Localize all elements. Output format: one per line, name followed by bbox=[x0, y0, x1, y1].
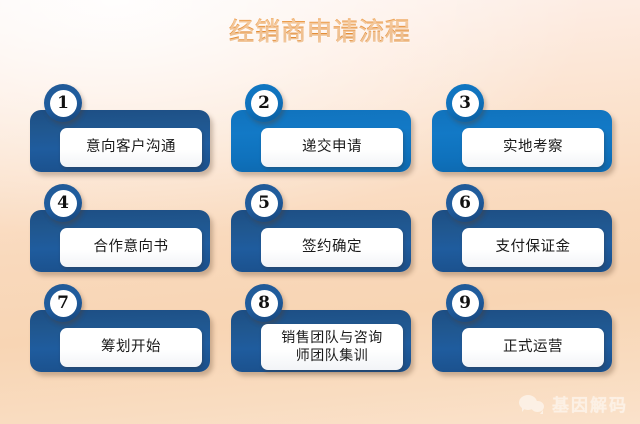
badge-disc: 1 bbox=[50, 90, 77, 117]
flow-step-7[interactable]: 7筹划开始 bbox=[22, 284, 218, 384]
step-number-badge: 5 bbox=[245, 184, 283, 222]
step-label-plate: 合作意向书 bbox=[60, 228, 202, 267]
step-label: 支付保证金 bbox=[496, 239, 571, 256]
step-label: 销售团队与咨询 师团队集训 bbox=[281, 329, 383, 365]
flowchart-canvas: 经销商申请流程 1意向客户沟通2递交申请3实地考察4合作意向书5签约确定6支付保… bbox=[0, 0, 640, 424]
badge-disc: 2 bbox=[251, 90, 278, 117]
step-label-plate: 支付保证金 bbox=[462, 228, 604, 267]
step-number: 9 bbox=[459, 295, 471, 312]
step-number-badge: 4 bbox=[44, 184, 82, 222]
step-label: 签约确定 bbox=[302, 239, 362, 256]
step-number-badge: 9 bbox=[446, 284, 484, 322]
badge-disc: 7 bbox=[50, 290, 77, 317]
page-title: 经销商申请流程 bbox=[229, 12, 411, 48]
step-label: 递交申请 bbox=[302, 139, 362, 156]
step-label: 正式运营 bbox=[503, 339, 563, 356]
badge-disc: 5 bbox=[251, 190, 278, 217]
step-label: 合作意向书 bbox=[94, 239, 169, 256]
step-label-plate: 筹划开始 bbox=[60, 328, 202, 367]
badge-disc: 8 bbox=[251, 290, 278, 317]
watermark: 基因解码 bbox=[519, 391, 628, 416]
step-number: 4 bbox=[57, 195, 69, 212]
step-label-plate: 签约确定 bbox=[261, 228, 403, 267]
watermark-text: 基因解码 bbox=[552, 391, 628, 416]
step-number: 7 bbox=[57, 295, 69, 312]
badge-disc: 4 bbox=[50, 190, 77, 217]
step-label-plate: 递交申请 bbox=[261, 128, 403, 167]
step-number-badge: 1 bbox=[44, 84, 82, 122]
step-number: 5 bbox=[258, 195, 270, 212]
step-label-plate: 正式运营 bbox=[462, 328, 604, 367]
flow-step-1[interactable]: 1意向客户沟通 bbox=[22, 84, 218, 184]
step-number: 3 bbox=[459, 95, 471, 112]
step-number-badge: 6 bbox=[446, 184, 484, 222]
flow-step-4[interactable]: 4合作意向书 bbox=[22, 184, 218, 284]
step-label: 意向客户沟通 bbox=[86, 139, 176, 156]
step-number-badge: 7 bbox=[44, 284, 82, 322]
step-label: 实地考察 bbox=[503, 139, 563, 156]
flow-step-3[interactable]: 3实地考察 bbox=[424, 84, 620, 184]
step-label-plate: 意向客户沟通 bbox=[60, 128, 202, 167]
step-number-badge: 8 bbox=[245, 284, 283, 322]
flow-step-2[interactable]: 2递交申请 bbox=[223, 84, 419, 184]
wechat-icon bbox=[519, 394, 545, 414]
step-number: 2 bbox=[258, 95, 270, 112]
step-label-plate: 实地考察 bbox=[462, 128, 604, 167]
badge-disc: 6 bbox=[452, 190, 479, 217]
steps-grid: 1意向客户沟通2递交申请3实地考察4合作意向书5签约确定6支付保证金7筹划开始8… bbox=[22, 84, 618, 384]
step-label: 筹划开始 bbox=[101, 339, 161, 356]
badge-disc: 9 bbox=[452, 290, 479, 317]
flow-step-9[interactable]: 9正式运营 bbox=[424, 284, 620, 384]
step-number-badge: 2 bbox=[245, 84, 283, 122]
step-number-badge: 3 bbox=[446, 84, 484, 122]
step-label-plate: 销售团队与咨询 师团队集训 bbox=[261, 324, 403, 370]
step-number: 8 bbox=[258, 295, 270, 312]
flow-step-6[interactable]: 6支付保证金 bbox=[424, 184, 620, 284]
page-title-container: 经销商申请流程 bbox=[0, 12, 640, 48]
flow-step-8[interactable]: 8销售团队与咨询 师团队集训 bbox=[223, 284, 419, 384]
step-number: 1 bbox=[57, 95, 69, 112]
badge-disc: 3 bbox=[452, 90, 479, 117]
step-number: 6 bbox=[459, 195, 471, 212]
flow-step-5[interactable]: 5签约确定 bbox=[223, 184, 419, 284]
